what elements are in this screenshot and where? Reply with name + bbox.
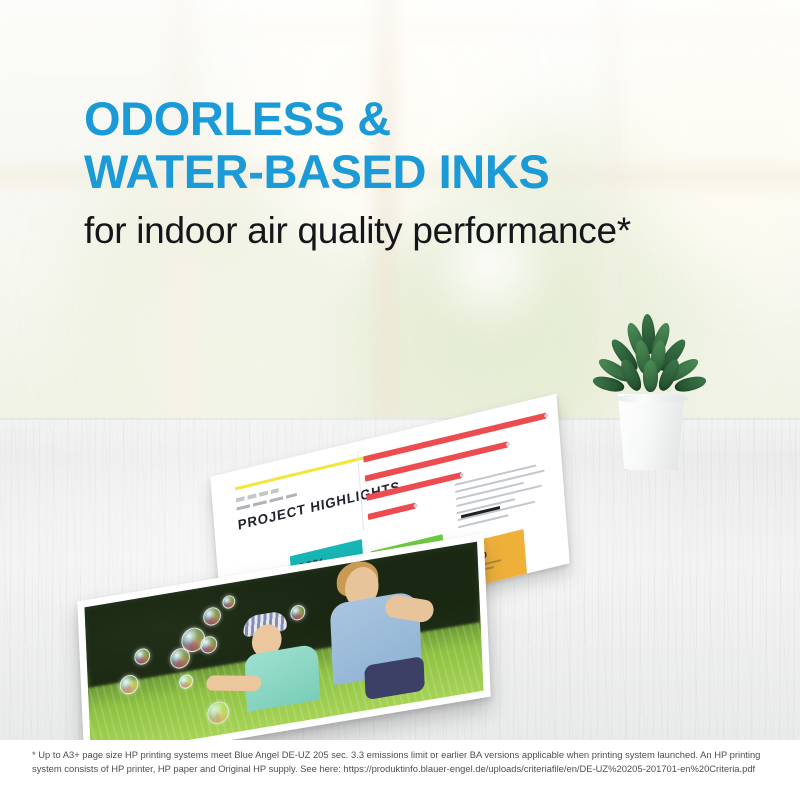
potted-plant bbox=[596, 312, 704, 470]
page-subtitle: for indoor air quality performance* bbox=[84, 209, 764, 253]
chart-point bbox=[460, 473, 464, 478]
photo-child bbox=[206, 675, 263, 691]
footnote-band: * Up to A3+ page size HP printing system… bbox=[0, 740, 800, 800]
footnote-text: * Up to A3+ page size HP printing system… bbox=[32, 748, 770, 775]
chart-point bbox=[414, 503, 418, 508]
headline-block: ODORLESS & WATER-BASED INKS for indoor a… bbox=[84, 92, 764, 253]
chart-point bbox=[544, 413, 548, 418]
page-title: ODORLESS & WATER-BASED INKS bbox=[84, 92, 764, 198]
plant-pot bbox=[614, 394, 688, 470]
marketing-banner: ODORLESS & WATER-BASED INKS for indoor a… bbox=[0, 0, 800, 800]
chart-point bbox=[506, 442, 510, 447]
succulent-leaf bbox=[643, 360, 658, 392]
chart-bar bbox=[368, 503, 416, 520]
pot-rim bbox=[614, 394, 688, 403]
